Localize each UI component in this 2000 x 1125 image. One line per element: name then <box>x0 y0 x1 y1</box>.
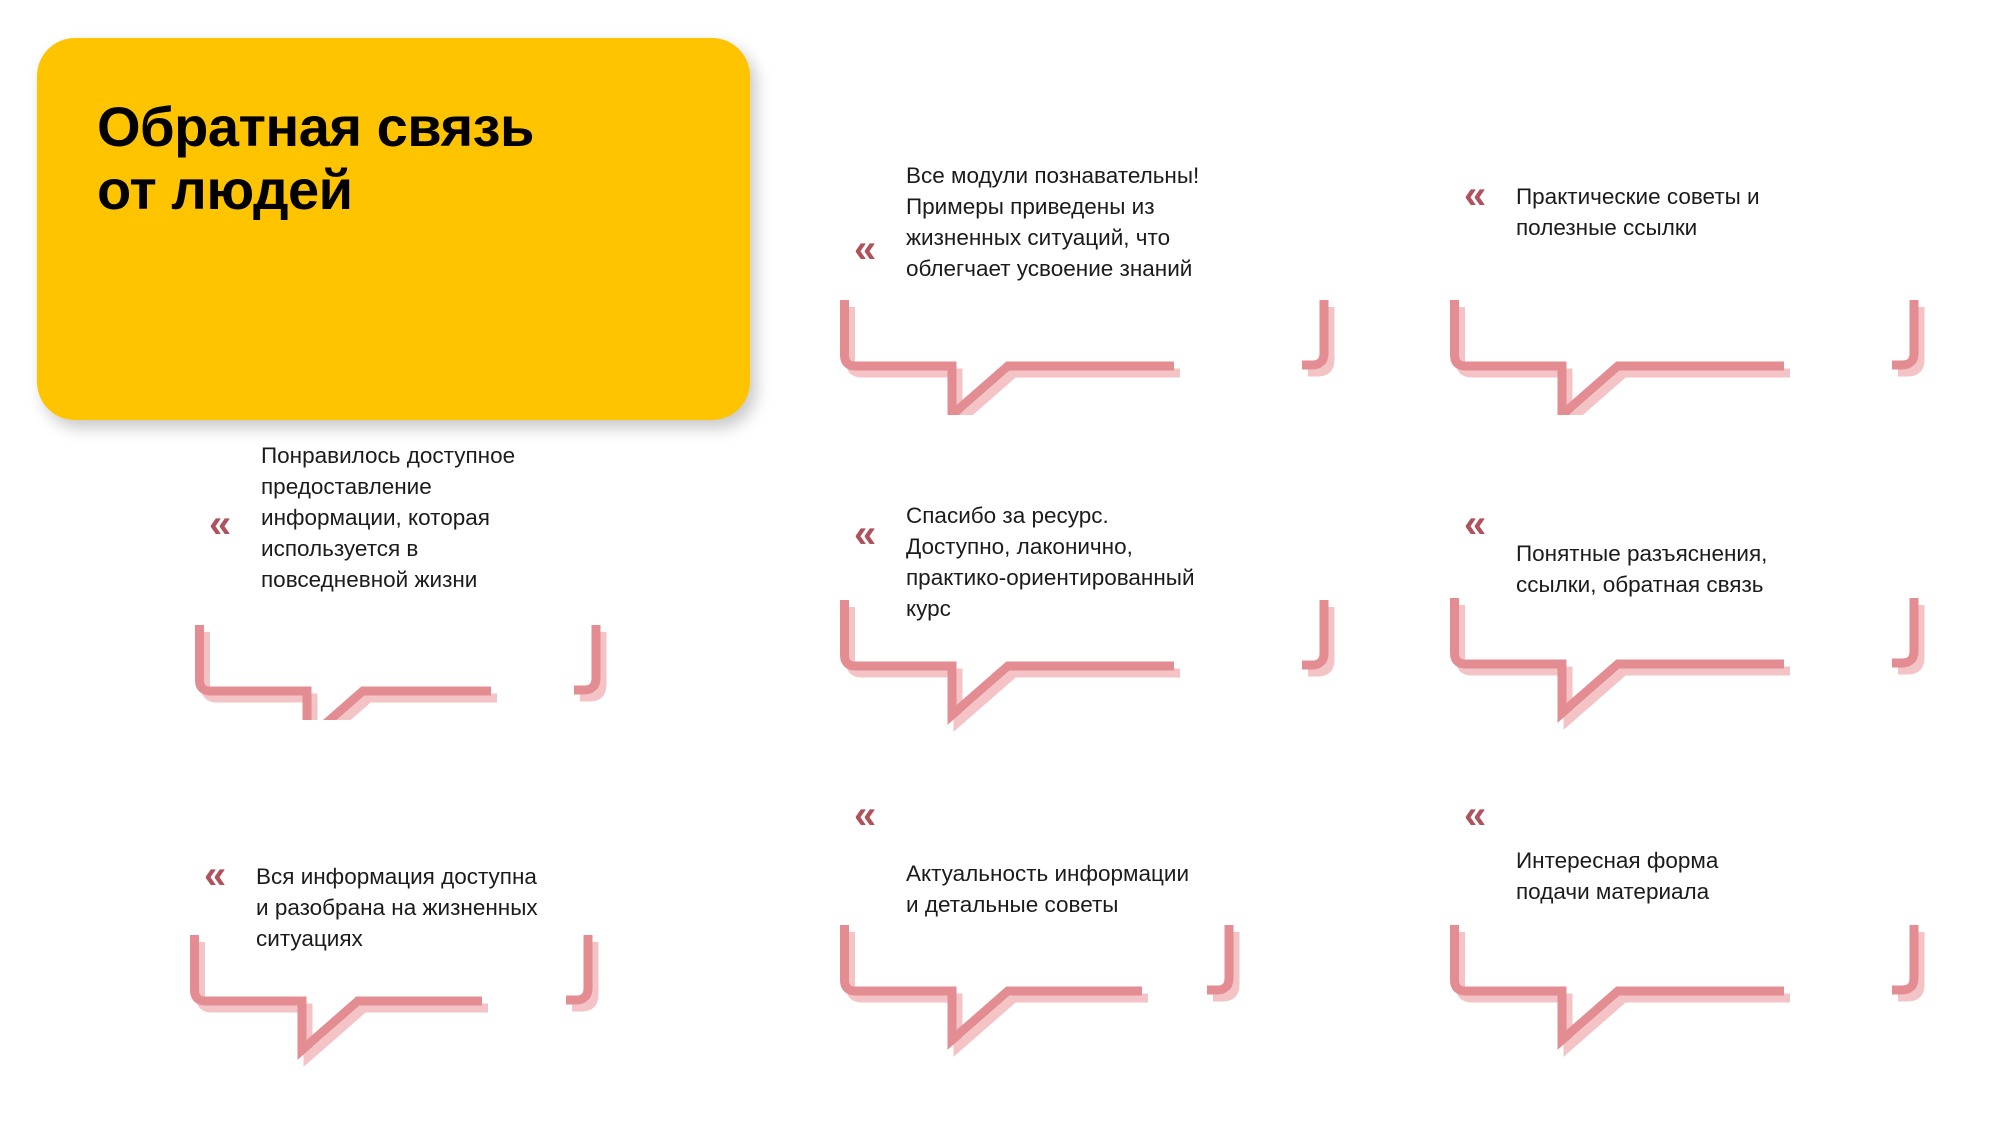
quote-mark-icon: « <box>854 229 876 269</box>
quote-text: Практические советы и полезные ссылки <box>1516 181 1936 243</box>
quote-block-clear-explanations: « Понятные разъяснения, ссылки, обратная… <box>1450 490 1950 740</box>
title-card: Обратная связь от людей <box>37 38 750 420</box>
quote-mark-icon: « <box>854 795 876 835</box>
quote-text: Вся информация доступна и разобрана на ж… <box>256 861 676 954</box>
quote-text: Интересная форма подачи материала <box>1516 845 1936 907</box>
quote-block-relevance: « Актуальность информации и детальные со… <box>840 800 1360 1060</box>
quote-block-thanks-resource: « Спасибо за ресурс. Доступно, лаконично… <box>840 490 1360 740</box>
quote-text: Понятные разъяснения, ссылки, обратная с… <box>1516 538 1936 600</box>
slide-canvas: Обратная связь от людей « Все модули поз… <box>0 0 2000 1125</box>
quote-text: Актуальность информации и детальные сове… <box>906 858 1326 920</box>
quote-block-liked-availability: « Понравилось доступное предоставление и… <box>195 470 700 720</box>
quote-mark-icon: « <box>854 514 876 554</box>
quote-mark-icon: « <box>1464 504 1486 544</box>
quote-text: Понравилось доступное предоставление инф… <box>261 440 661 595</box>
quote-text: Все модули познавательны! Примеры привед… <box>906 160 1346 284</box>
quote-text: Спасибо за ресурс. Доступно, лаконично, … <box>906 500 1346 624</box>
speech-bubble-outline <box>840 800 1360 1060</box>
quote-mark-icon: « <box>209 504 231 544</box>
speech-bubble-outline <box>1450 800 1950 1060</box>
quote-block-all-modules: « Все модули познавательны! Примеры прив… <box>840 175 1360 415</box>
page-title: Обратная связь от людей <box>97 96 690 221</box>
quote-mark-icon: « <box>1464 795 1486 835</box>
quote-mark-icon: « <box>204 855 226 895</box>
speech-bubble-outline <box>1450 490 1950 740</box>
quote-block-interesting-form: « Интересная форма подачи материала <box>1450 800 1950 1060</box>
quote-block-practical-advice: « Практические советы и полезные ссылки <box>1450 175 1950 415</box>
quote-mark-icon: « <box>1464 175 1486 215</box>
quote-block-all-info-available: « Вся информация доступна и разобрана на… <box>190 855 695 1095</box>
